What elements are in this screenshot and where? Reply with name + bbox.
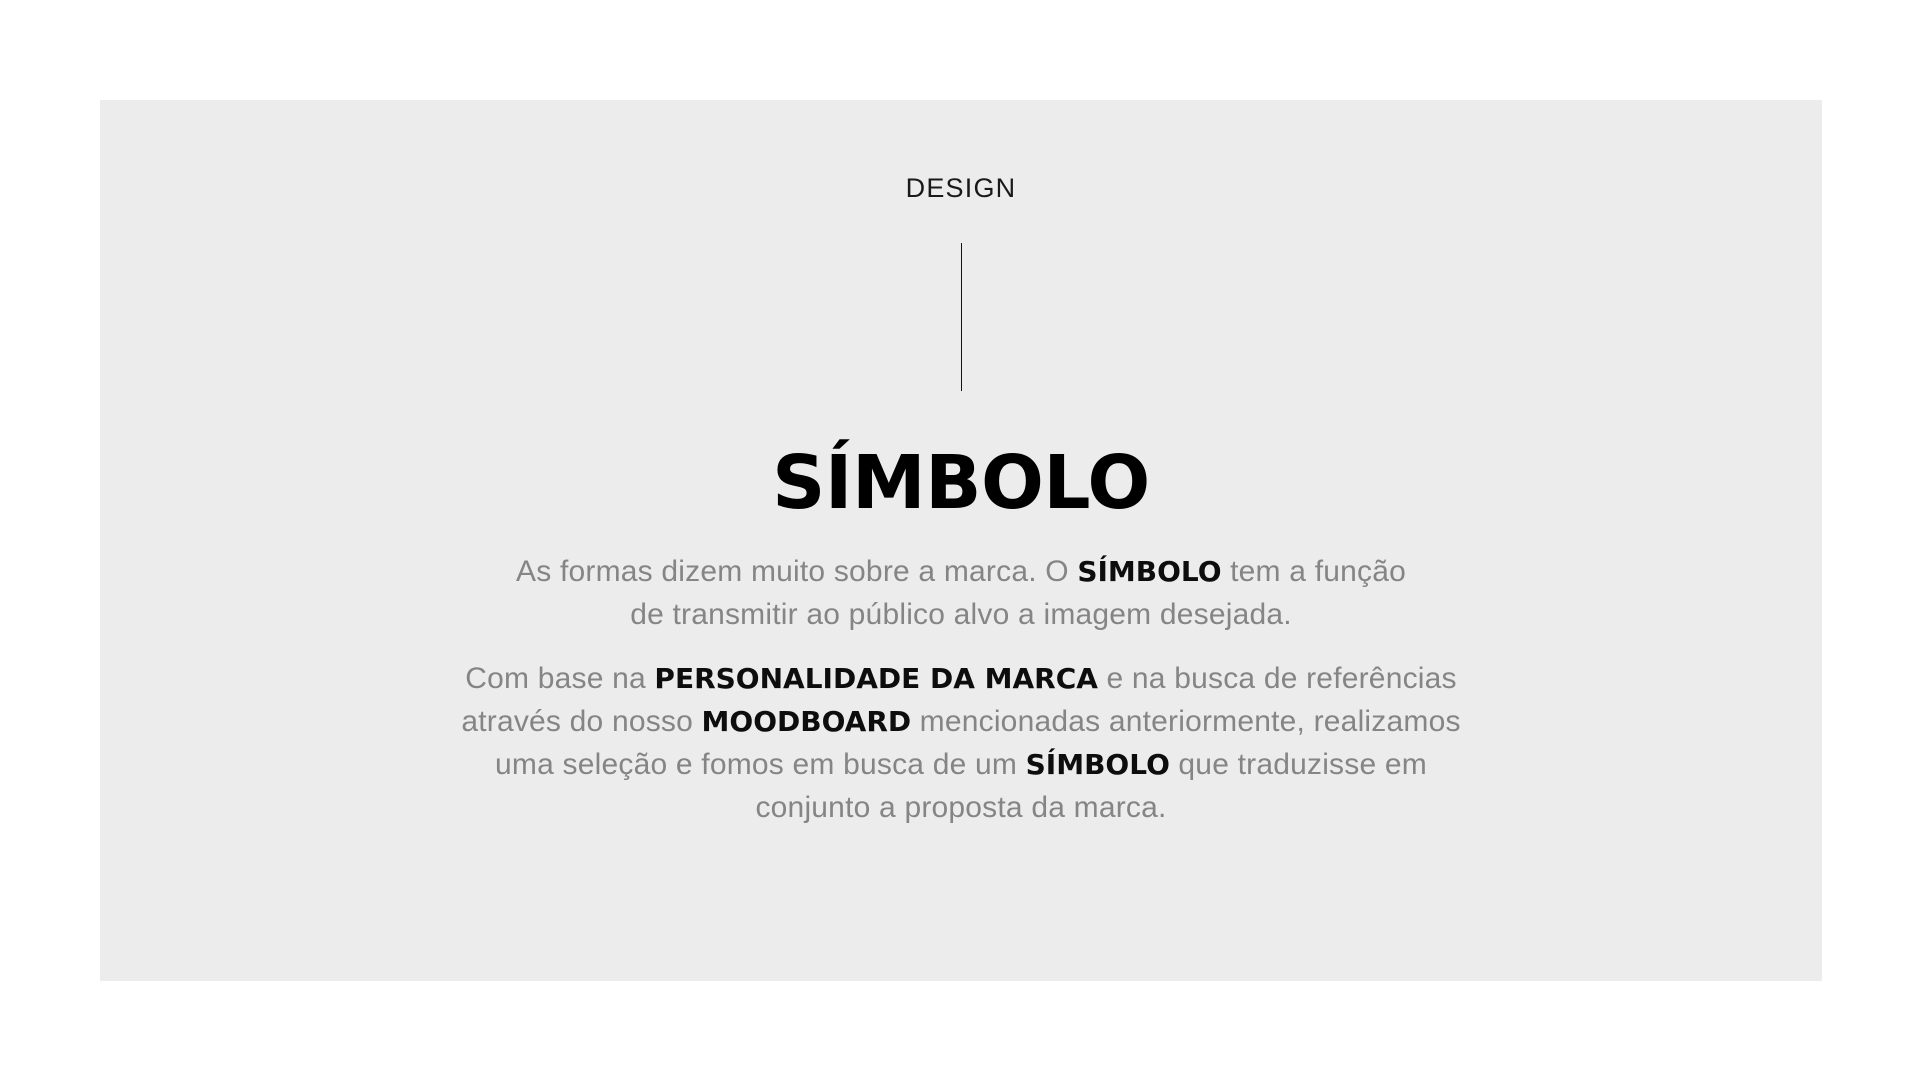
slide-canvas: DESIGN SÍMBOLO As formas dizem muito sob… [0,0,1920,1080]
vertical-rule-divider [961,243,962,391]
body-line: através do nosso MOODBOARD mencionadas a… [100,700,1822,743]
content-panel: DESIGN SÍMBOLO As formas dizem muito sob… [100,100,1822,981]
body-text: e na busca de referências [1098,662,1457,695]
body-text: de transmitir ao público alvo a imagem d… [630,598,1292,631]
body-text: que traduzisse em [1170,748,1427,781]
body-paragraph-intro: As formas dizem muito sobre a marca. O S… [100,550,1822,636]
body-line: As formas dizem muito sobre a marca. O S… [100,550,1822,593]
emphasis-term: MOODBOARD [702,705,912,738]
section-eyebrow-label: DESIGN [100,175,1822,202]
body-text: conjunto a proposta da marca. [755,791,1166,824]
body-text: através do nosso [461,705,701,738]
body-text: uma seleção e fomos em busca de um [495,748,1026,781]
content-panel-inner: DESIGN SÍMBOLO As formas dizem muito sob… [100,100,1822,981]
body-text: As formas dizem muito sobre a marca. O [516,555,1077,588]
emphasis-term: SÍMBOLO [1077,555,1221,588]
emphasis-term: PERSONALIDADE DA MARCA [654,662,1098,695]
body-line: de transmitir ao público alvo a imagem d… [100,593,1822,636]
body-line: uma seleção e fomos em busca de um SÍMBO… [100,743,1822,786]
body-paragraph-process: Com base na PERSONALIDADE DA MARCA e na … [100,657,1822,829]
body-text: mencionadas anteriormente, realizamos [911,705,1461,738]
body-line: conjunto a proposta da marca. [100,786,1822,829]
emphasis-term: SÍMBOLO [1026,748,1170,781]
body-text: Com base na [465,662,654,695]
body-line: Com base na PERSONALIDADE DA MARCA e na … [100,657,1822,700]
page-title: SÍMBOLO [100,446,1822,520]
body-text: tem a função [1222,555,1406,588]
